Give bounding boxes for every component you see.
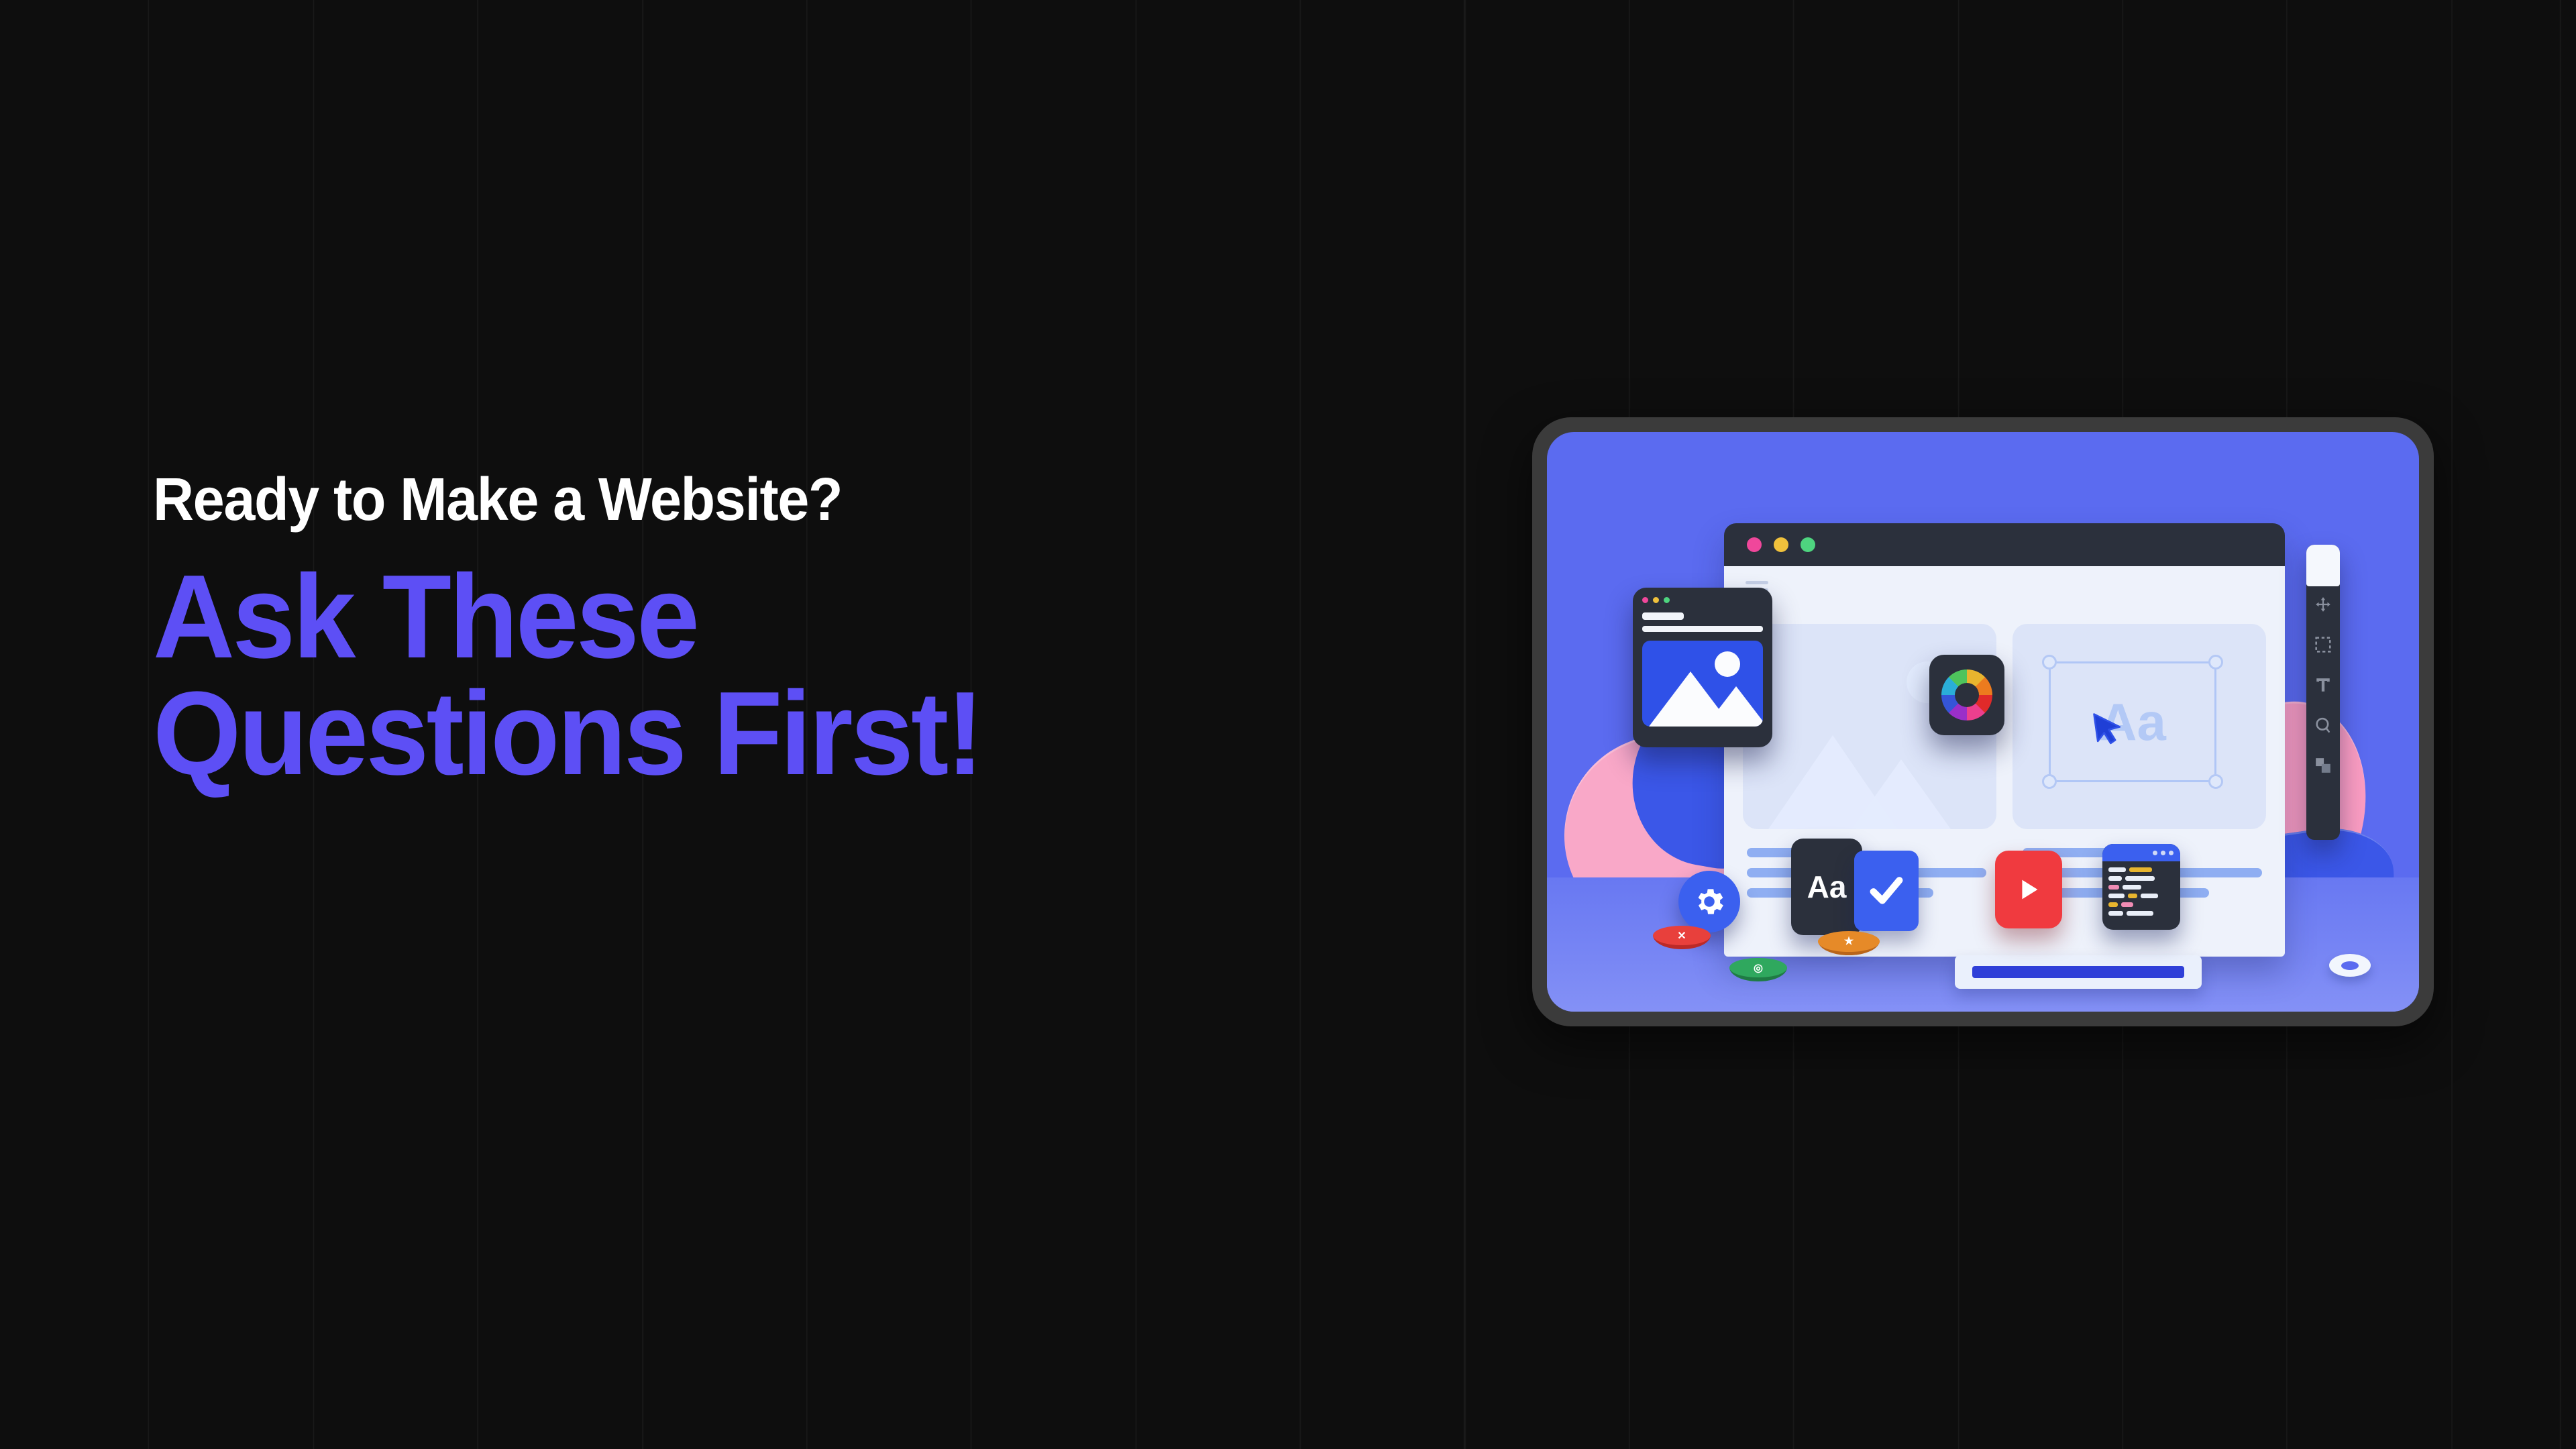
typography-button[interactable]: Aa [1791, 839, 1862, 935]
code-line [2108, 894, 2174, 898]
tool-palette-cap [2306, 545, 2340, 586]
code-token [2108, 885, 2119, 890]
mountain-icon [1705, 686, 1763, 727]
code-token [2108, 876, 2122, 881]
code-token [2108, 894, 2125, 898]
image-card[interactable] [1633, 588, 1772, 747]
move-tool-icon[interactable] [2314, 596, 2332, 613]
code-token [2108, 902, 2118, 907]
play-icon [2013, 874, 2044, 905]
code-line [2108, 885, 2174, 890]
selection-bounding-box[interactable]: Aa [2049, 661, 2216, 782]
page-title: Ask These Questions First! [153, 558, 981, 792]
image-card-subtitle-bar [1642, 626, 1763, 632]
selection-handle-top-right[interactable] [2208, 655, 2223, 669]
code-token [2121, 902, 2133, 907]
checkmark-icon [1867, 871, 1906, 910]
image-card-photo [1642, 641, 1763, 727]
chip-star[interactable]: ★ [1818, 931, 1880, 963]
base-slab [1955, 955, 2202, 989]
eyebrow-heading: Ready to Make a Website? [153, 470, 969, 530]
code-token [2129, 867, 2152, 872]
hero-panels: Aa [1743, 624, 2266, 829]
play-button[interactable] [1995, 851, 2062, 928]
settings-button[interactable] [1678, 871, 1740, 932]
minimize-dot-icon [1653, 597, 1659, 603]
code-token [2128, 894, 2137, 898]
illustration-canvas: Aa [1547, 432, 2419, 1012]
shapes-tool-icon[interactable] [2314, 757, 2332, 774]
maximize-dot-icon [1664, 597, 1670, 603]
image-card-traffic-lights [1642, 597, 1763, 603]
selection-handle-top-left[interactable] [2042, 655, 2057, 669]
star-icon: ★ [1818, 931, 1880, 952]
close-dot-icon[interactable] [1747, 537, 1762, 552]
image-card-title-bar [1642, 612, 1684, 620]
headline-block: Ready to Make a Website? Ask These Quest… [153, 470, 1020, 792]
selection-handle-bottom-left[interactable] [2042, 774, 2057, 789]
color-wheel-icon[interactable] [1941, 669, 1992, 720]
code-line [2108, 902, 2174, 907]
confirm-button[interactable] [1854, 851, 1919, 931]
chip-close[interactable]: ✕ [1653, 926, 1711, 957]
code-token [2108, 867, 2126, 872]
text-selection-panel[interactable]: Aa [2012, 624, 2266, 829]
code-line [2108, 867, 2174, 872]
code-line [2108, 876, 2174, 881]
marquee-select-tool-icon[interactable] [2314, 636, 2332, 653]
color-picker-card[interactable] [1929, 655, 2004, 735]
minimize-dot-icon[interactable] [1774, 537, 1788, 552]
selection-handle-bottom-right[interactable] [2208, 774, 2223, 789]
white-ring [2329, 954, 2371, 977]
tool-palette[interactable] [2306, 545, 2340, 840]
maximize-dot-icon[interactable] [1801, 537, 1815, 552]
settings-gear-icon [1692, 884, 1727, 919]
illustration-card: Aa [1532, 417, 2434, 1026]
code-token [2127, 911, 2153, 916]
base-slab-accent [1972, 966, 2184, 978]
mountain-icon [1851, 759, 1951, 829]
close-dot-icon [1642, 597, 1648, 603]
code-line [2108, 911, 2174, 916]
code-card-titlebar [2102, 844, 2180, 861]
code-token [2123, 885, 2141, 890]
code-card-body [2102, 861, 2180, 922]
code-token [2125, 876, 2155, 881]
browser-titlebar [1724, 523, 2285, 566]
code-token [2141, 894, 2158, 898]
code-token [2108, 911, 2123, 916]
arrow-cursor-icon [2091, 708, 2127, 747]
code-editor-card[interactable] [2102, 844, 2180, 930]
chip-target[interactable]: ◎ [1729, 958, 1787, 989]
text-tool-icon[interactable] [2314, 676, 2332, 694]
lasso-tool-icon[interactable] [2314, 716, 2332, 734]
aa-sample-text: Aa [2051, 663, 2214, 780]
